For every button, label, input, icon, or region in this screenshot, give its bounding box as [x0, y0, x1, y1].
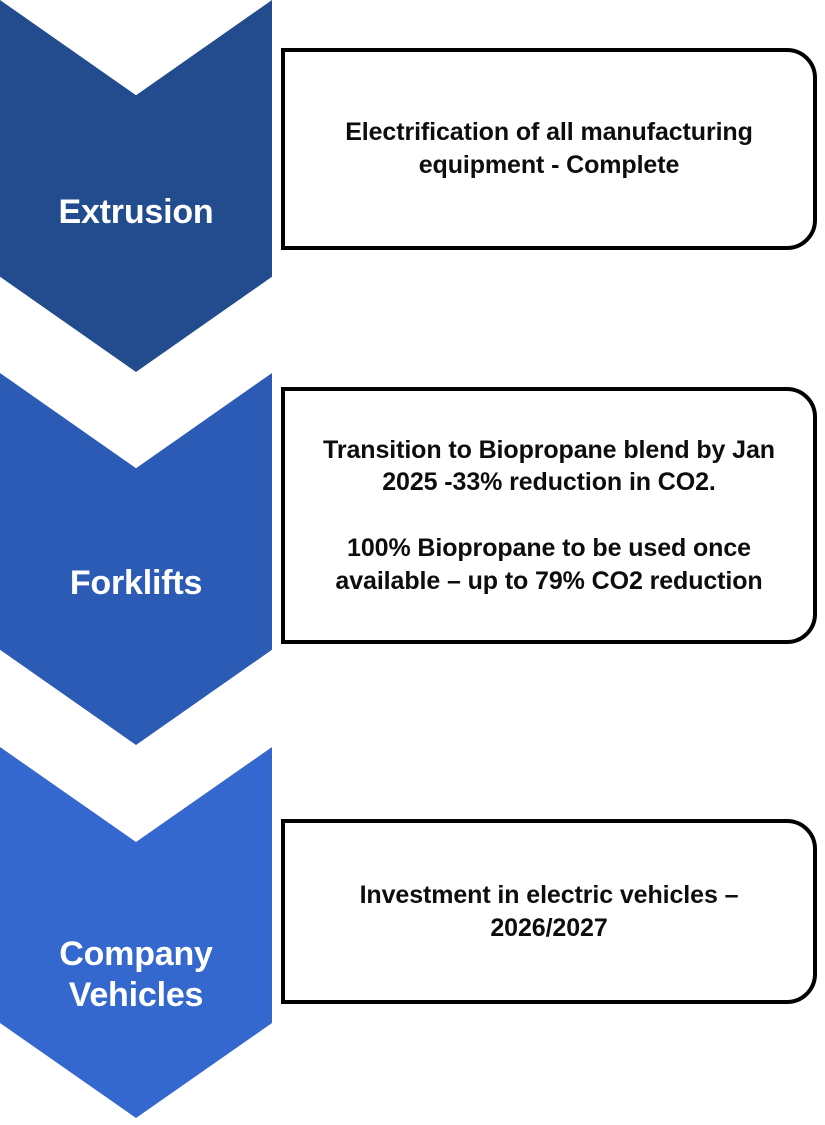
diagram-canvas: Extrusion Electrification of all manufac…: [0, 0, 825, 1125]
callout-card-extrusion[interactable]: Electrification of all manufacturing equ…: [281, 48, 817, 250]
process-step-extrusion[interactable]: Extrusion: [0, 0, 272, 372]
callout-text-company-vehicles: Investment in electric vehicles – 2026/2…: [285, 879, 813, 945]
callout-card-company-vehicles[interactable]: Investment in electric vehicles – 2026/2…: [281, 819, 817, 1004]
callout-card-forklifts[interactable]: Transition to Biopropane blend by Jan 20…: [281, 387, 817, 644]
chevron-shape-extrusion[interactable]: [0, 0, 272, 372]
chevron-shape-company-vehicles[interactable]: [0, 747, 272, 1118]
process-step-company-vehicles[interactable]: Company Vehicles: [0, 747, 272, 1118]
callout-text-forklifts: Transition to Biopropane blend by Jan 20…: [285, 434, 813, 598]
process-step-forklifts[interactable]: Forklifts: [0, 373, 272, 745]
callout-text-extrusion: Electrification of all manufacturing equ…: [285, 116, 813, 182]
chevron-shape-forklifts[interactable]: [0, 373, 272, 745]
